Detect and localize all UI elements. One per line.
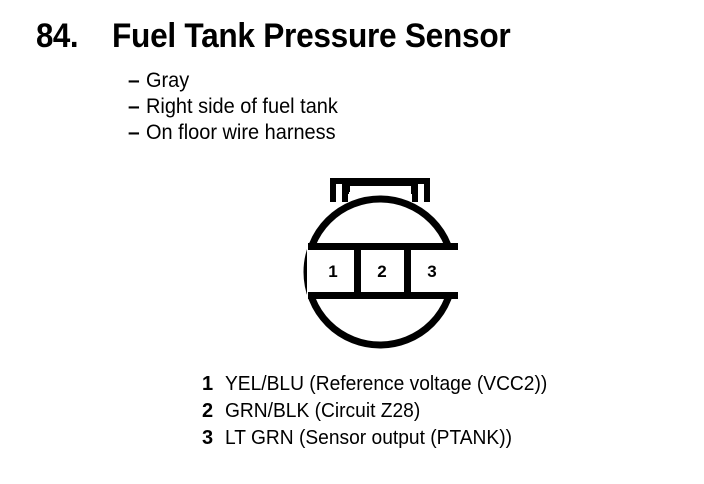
dash-icon: – — [128, 120, 146, 146]
latch-bar-left-leg-icon — [342, 185, 349, 194]
connector-diagram: 1 2 3 — [280, 172, 480, 356]
list-item-label: On floor wire harness — [146, 120, 336, 146]
list-item-label: Gray — [146, 68, 189, 94]
list-item: –On floor wire harness — [128, 120, 548, 146]
pin-number-3: 3 — [427, 262, 436, 281]
legend-row: 3LT GRN (Sensor output (PTANK)) — [202, 425, 662, 452]
pin-number-1: 1 — [328, 262, 337, 281]
pin-divider-2-3 — [404, 246, 411, 293]
connector-svg: 1 2 3 — [280, 172, 480, 356]
pin-divider-1-2 — [354, 246, 361, 293]
pin-band-bottom-rail — [308, 292, 458, 299]
page-title: 84.Fuel Tank Pressure Sensor — [36, 17, 540, 56]
list-item: –Right side of fuel tank — [128, 94, 548, 120]
legend-pin-number: 3 — [202, 425, 225, 452]
legend-row: 1YEL/BLU (Reference voltage (VCC2)) — [202, 371, 662, 398]
legend-description: LT GRN (Sensor output (PTANK)) — [225, 425, 512, 452]
title-text: Fuel Tank Pressure Sensor — [112, 17, 510, 56]
list-item: –Gray — [128, 68, 548, 94]
detail-list: –Gray –Right side of fuel tank –On floor… — [128, 68, 548, 146]
latch-bar-top-icon — [342, 178, 418, 185]
item-number: 84. — [36, 17, 78, 56]
legend-pin-number: 2 — [202, 398, 225, 425]
legend-row: 2GRN/BLK (Circuit Z28) — [202, 398, 662, 425]
legend-description: GRN/BLK (Circuit Z28) — [225, 398, 420, 425]
dash-icon: – — [128, 94, 146, 120]
legend-pin-number: 1 — [202, 371, 225, 398]
legend-description: YEL/BLU (Reference voltage (VCC2)) — [225, 371, 547, 398]
pin-legend: 1YEL/BLU (Reference voltage (VCC2)) 2GRN… — [202, 371, 662, 452]
list-item-label: Right side of fuel tank — [146, 94, 338, 120]
pin-band-top-rail — [308, 243, 458, 250]
dash-icon: – — [128, 68, 146, 94]
latch-bar-right-leg-icon — [411, 185, 418, 194]
pin-number-2: 2 — [377, 262, 386, 281]
